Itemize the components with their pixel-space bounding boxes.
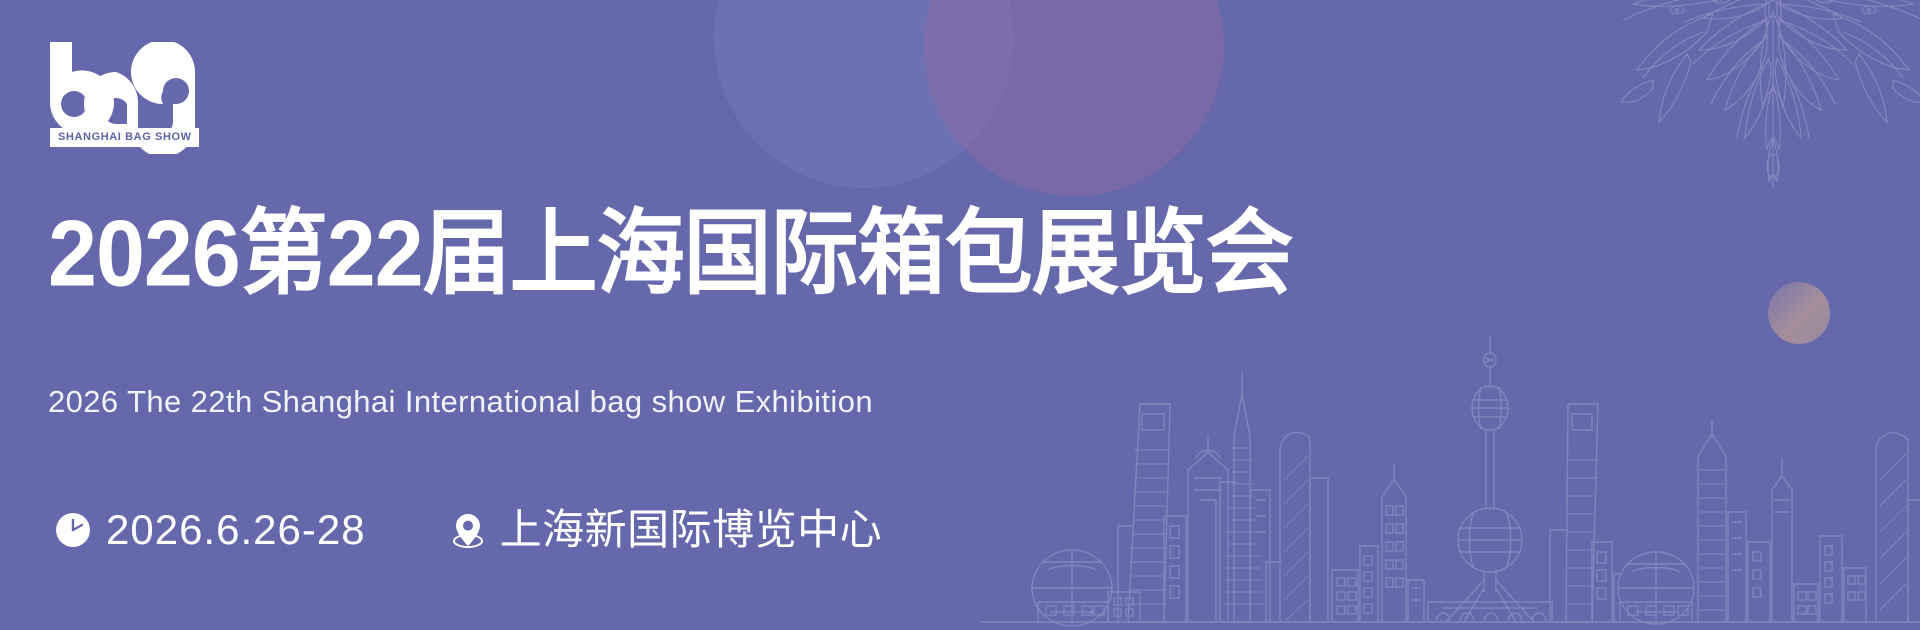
- brand-logo[interactable]: SHANGHAI BAG SHOW: [48, 42, 248, 157]
- event-banner: SHANGHAI BAG SHOW 2026第22届上海国际箱包展览会 2026…: [0, 0, 1920, 630]
- event-date: 2026.6.26-28: [52, 509, 366, 551]
- page-title: 2026第22届上海国际箱包展览会: [48, 207, 1293, 300]
- clock-icon: [52, 509, 94, 551]
- location-pin-icon: [446, 508, 490, 552]
- banner-content: SHANGHAI BAG SHOW 2026第22届上海国际箱包展览会 2026…: [0, 0, 1920, 630]
- event-venue: 上海新国际博览中心: [446, 508, 883, 552]
- page-subtitle: 2026 The 22th Shanghai International bag…: [48, 386, 873, 417]
- event-date-text: 2026.6.26-28: [106, 509, 366, 551]
- event-meta-row: 2026.6.26-28 上海新国际博览中心: [52, 508, 882, 552]
- logo-badge-text: SHANGHAI BAG SHOW: [50, 128, 199, 147]
- event-venue-text: 上海新国际博览中心: [500, 509, 883, 551]
